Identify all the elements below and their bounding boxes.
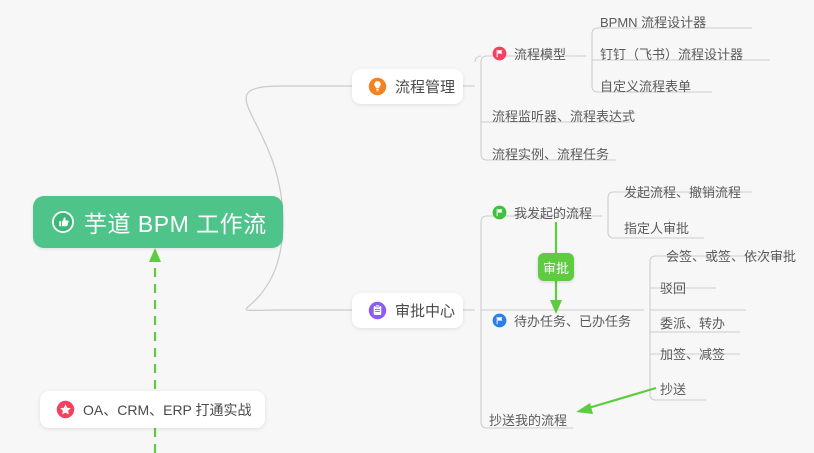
approval-tag[interactable]: 审批	[538, 253, 574, 281]
leaf-label-dingtalk-feishu-designer: 钉钉（飞书）流程设计器	[600, 44, 743, 63]
integration-practice-label: OA、CRM、ERP 打通实战	[83, 400, 252, 420]
flag-icon	[492, 313, 507, 328]
leaf-todo-done[interactable]: 待办任务、已办任务	[492, 311, 637, 333]
leaf-label-custom-process-form: 自定义流程表单	[600, 76, 691, 95]
leaf-multi-sign[interactable]: 会签、或签、依次审批	[666, 246, 790, 268]
leaf-start-cancel[interactable]: 发起流程、撤销流程	[624, 182, 752, 204]
integration-practice-node[interactable]: OA、CRM、ERP 打通实战	[40, 391, 265, 428]
root-label: 芋道 BPM 工作流	[84, 205, 267, 239]
leaf-bpmn-designer[interactable]: BPMN 流程设计器	[600, 12, 752, 34]
leaf-label-listener-expression: 流程监听器、流程表达式	[492, 106, 635, 125]
leaf-my-initiated[interactable]: 我发起的流程	[492, 203, 595, 225]
leaf-label-delegate-transfer: 委派、转办	[660, 313, 725, 332]
leaf-label-todo-done: 待办任务、已办任务	[514, 311, 631, 330]
leaf-instance-task[interactable]: 流程实例、流程任务	[492, 144, 616, 166]
leaf-label-assignee-approval: 指定人审批	[624, 218, 689, 237]
leaf-label-instance-task: 流程实例、流程任务	[492, 144, 609, 163]
branch-node-process-management[interactable]: 流程管理	[352, 69, 463, 104]
branch-label-approval-center: 审批中心	[395, 300, 455, 321]
mindmap-canvas: 芋道 BPM 工作流 流程管理 流程模型 BPMN 流程设计器 钉钉（飞书）流	[0, 0, 814, 453]
leaf-listener-expression[interactable]: 流程监听器、流程表达式	[492, 106, 630, 128]
root-node[interactable]: 芋道 BPM 工作流	[33, 196, 283, 248]
leaf-label-cc-to-me: 抄送我的流程	[489, 410, 567, 429]
flag-icon	[492, 46, 507, 61]
flag-icon	[492, 205, 507, 220]
leaf-custom-process-form[interactable]: 自定义流程表单	[600, 76, 712, 98]
leaf-label-bpmn-designer: BPMN 流程设计器	[600, 12, 706, 31]
thumbs-up-icon	[51, 210, 75, 234]
lightbulb-icon	[368, 77, 387, 96]
leaf-label-multi-sign: 会签、或签、依次审批	[666, 246, 796, 265]
leaf-cc[interactable]: 抄送	[660, 379, 706, 401]
leaf-cc-to-me[interactable]: 抄送我的流程	[489, 410, 573, 432]
cc-flow-arrow	[576, 388, 656, 414]
leaf-reject[interactable]: 驳回	[660, 278, 716, 300]
leaf-delegate-transfer[interactable]: 委派、转办	[660, 313, 746, 335]
leaf-add-remove-sign[interactable]: 加签、减签	[660, 344, 740, 366]
clipboard-icon	[368, 301, 387, 320]
leaf-dingtalk-feishu-designer[interactable]: 钉钉（飞书）流程设计器	[600, 44, 770, 66]
leaf-label-add-remove-sign: 加签、减签	[660, 344, 725, 363]
leaf-label-process-model: 流程模型	[514, 44, 566, 63]
star-icon	[56, 400, 75, 419]
leaf-label-my-initiated: 我发起的流程	[514, 203, 592, 222]
leaf-process-model[interactable]: 流程模型	[492, 44, 584, 66]
leaf-label-start-cancel: 发起流程、撤销流程	[624, 182, 741, 201]
leaf-assignee-approval[interactable]: 指定人审批	[624, 218, 704, 240]
leaf-label-reject: 驳回	[660, 278, 686, 297]
branch-node-approval-center[interactable]: 审批中心	[352, 293, 463, 328]
leaf-label-cc: 抄送	[660, 379, 686, 398]
approval-tag-label: 审批	[543, 258, 569, 277]
branch-label-process-management: 流程管理	[395, 76, 455, 97]
